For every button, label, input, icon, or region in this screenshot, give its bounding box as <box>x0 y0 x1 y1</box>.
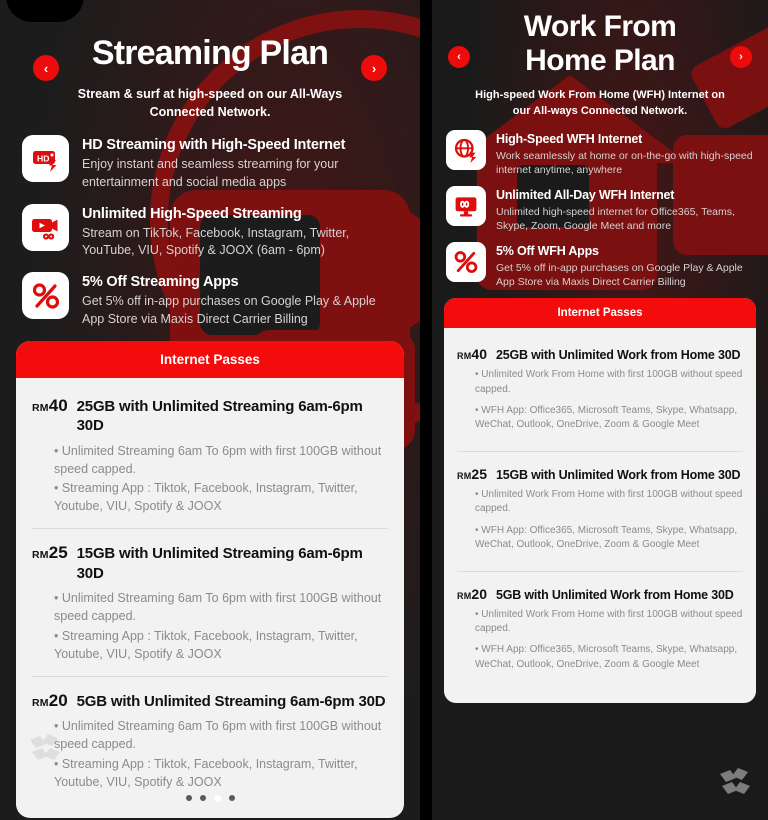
feature-item: Unlimited All-Day WFH Internet Unlimited… <box>446 186 756 233</box>
right-panel-subtitle: High-speed Work From Home (WFH) Internet… <box>466 88 734 120</box>
currency-label: RM <box>32 549 49 561</box>
pass-name: 5GB with Unlimited Work from Home 30D <box>496 587 734 603</box>
pass-price: RM25 <box>457 466 487 482</box>
pass-name: 15GB with Unlimited Work from Home 30D <box>496 467 740 483</box>
pass-bullet: • Streaming App : Tiktok, Facebook, Inst… <box>54 755 388 791</box>
pass-price: RM40 <box>457 346 487 362</box>
pass-bullet: • Unlimited Work From Home with first 10… <box>475 488 743 516</box>
pagination-dot[interactable] <box>200 795 206 801</box>
dual-plan-comparison-screen: ‹ › Streaming Plan Stream & surf at high… <box>0 0 768 820</box>
passes-list: RM40 25GB with Unlimited Work from Home … <box>444 328 756 702</box>
pass-item[interactable]: RM20 5GB with Unlimited Work from Home 3… <box>457 571 743 691</box>
price-value: 40 <box>471 346 487 362</box>
unlimited-video-icon <box>22 204 69 251</box>
pagination-dot[interactable] <box>186 795 192 801</box>
svg-text:HD: HD <box>37 153 49 163</box>
pass-bullets: • Unlimited Work From Home with first 10… <box>457 608 743 672</box>
feature-description: Get 5% off in-app purchases on Google Pl… <box>82 293 392 328</box>
streaming-plan-panel: ‹ › Streaming Plan Stream & surf at high… <box>0 0 420 820</box>
pass-bullets: • Unlimited Streaming 6am To 6pm with fi… <box>32 442 388 516</box>
feature-title: HD Streaming with High-Speed Internet <box>82 137 392 153</box>
feature-description: Get 5% off in-app purchases on Google Pl… <box>496 261 756 289</box>
pass-item[interactable]: RM25 15GB with Unlimited Streaming 6am-6… <box>32 528 388 676</box>
pass-bullet: • Unlimited Streaming 6am To 6pm with fi… <box>54 442 388 478</box>
pass-item[interactable]: RM40 25GB with Unlimited Work from Home … <box>457 332 743 451</box>
prev-arrow-left-panel[interactable]: ‹ <box>33 55 59 81</box>
passes-list: RM40 25GB with Unlimited Streaming 6am-6… <box>16 378 404 818</box>
pass-bullet: • Unlimited Work From Home with first 10… <box>475 368 743 396</box>
pass-bullet: • Streaming App : Tiktok, Facebook, Inst… <box>54 627 388 663</box>
pass-bullets: • Unlimited Streaming 6am To 6pm with fi… <box>32 589 388 663</box>
pass-name: 25GB with Unlimited Streaming 6am-6pm 30… <box>77 397 388 436</box>
next-arrow-right-panel[interactable]: › <box>730 46 752 68</box>
currency-label: RM <box>457 591 471 601</box>
pass-item[interactable]: RM25 15GB with Unlimited Work from Home … <box>457 451 743 571</box>
right-panel-title-line1: Work From <box>432 0 768 44</box>
passes-card-header: Internet Passes <box>16 341 404 378</box>
passes-card-header: Internet Passes <box>444 298 756 328</box>
work-from-home-plan-panel: ‹ › Work From Home Plan High-speed Work … <box>432 0 768 820</box>
maxis-logo <box>26 728 66 768</box>
right-panel-header: Work From Home Plan High-speed Work From… <box>432 0 768 120</box>
price-value: 20 <box>471 586 487 602</box>
feature-description: Work seamlessly at home or on-the-go wit… <box>496 149 756 177</box>
hd-streaming-icon: HD <box>22 135 69 182</box>
feature-title: 5% Off Streaming Apps <box>82 274 392 290</box>
pass-bullet: • Unlimited Streaming 6am To 6pm with fi… <box>54 717 388 753</box>
percent-discount-icon <box>22 272 69 319</box>
pass-item[interactable]: RM40 25GB with Unlimited Streaming 6am-6… <box>32 382 388 529</box>
pass-price: RM40 <box>32 396 68 416</box>
pass-price: RM25 <box>32 543 68 563</box>
pass-bullets: • Unlimited Streaming 6am To 6pm with fi… <box>32 717 388 791</box>
pass-bullet: • WFH App: Office365, Microsoft Teams, S… <box>475 524 743 552</box>
left-panel-subtitle: Stream & surf at high-speed on our All-W… <box>70 85 350 121</box>
monitor-infinity-icon <box>446 186 486 226</box>
feature-item: Unlimited High-Speed Streaming Stream on… <box>22 204 402 260</box>
prev-arrow-right-panel[interactable]: ‹ <box>448 46 470 68</box>
feature-description: Stream on TikTok, Facebook, Instagram, T… <box>82 225 392 260</box>
pagination-dot[interactable] <box>229 795 235 801</box>
pass-bullet: • WFH App: Office365, Microsoft Teams, S… <box>475 404 743 432</box>
pass-price: RM20 <box>32 691 68 711</box>
pass-bullet: • Unlimited Work From Home with first 10… <box>475 608 743 636</box>
pass-bullet: • Streaming App : Tiktok, Facebook, Inst… <box>54 479 388 515</box>
pass-bullets: • Unlimited Work From Home with first 10… <box>457 488 743 552</box>
panel-divider <box>420 0 432 820</box>
right-panel-title-line2: Home Plan <box>432 44 768 78</box>
feature-title: Unlimited All-Day WFH Internet <box>496 188 756 202</box>
pass-price: RM20 <box>457 586 487 602</box>
feature-item: 5% Off WFH Apps Get 5% off in-app purcha… <box>446 242 756 289</box>
currency-label: RM <box>457 471 471 481</box>
left-panel-feature-list: HD HD Streaming with High-Speed Internet… <box>0 121 420 328</box>
globe-bolt-icon <box>446 130 486 170</box>
left-internet-passes-card: Internet Passes RM40 25GB with Unlimited… <box>16 341 404 818</box>
currency-label: RM <box>457 351 471 361</box>
carousel-pagination[interactable] <box>0 795 420 802</box>
feature-description: Unlimited high-speed internet for Office… <box>496 205 756 233</box>
right-internet-passes-card: Internet Passes RM40 25GB with Unlimited… <box>444 298 756 702</box>
next-arrow-left-panel[interactable]: › <box>361 55 387 81</box>
feature-item: 5% Off Streaming Apps Get 5% off in-app … <box>22 272 402 328</box>
feature-description: Enjoy instant and seamless streaming for… <box>82 156 392 191</box>
maxis-logo <box>716 762 756 802</box>
feature-item: High-Speed WFH Internet Work seamlessly … <box>446 130 756 177</box>
feature-title: High-Speed WFH Internet <box>496 132 756 146</box>
pass-bullets: • Unlimited Work From Home with first 10… <box>457 368 743 432</box>
price-value: 25 <box>471 466 487 482</box>
right-panel-feature-list: High-Speed WFH Internet Work seamlessly … <box>432 120 768 289</box>
feature-title: Unlimited High-Speed Streaming <box>82 206 392 222</box>
currency-label: RM <box>32 402 49 414</box>
percent-discount-icon <box>446 242 486 282</box>
pass-name: 25GB with Unlimited Work from Home 30D <box>496 347 740 363</box>
currency-label: RM <box>32 697 49 709</box>
pass-name: 5GB with Unlimited Streaming 6am-6pm 30D <box>77 692 386 712</box>
pass-bullet: • Unlimited Streaming 6am To 6pm with fi… <box>54 589 388 625</box>
price-value: 20 <box>49 691 68 710</box>
feature-item: HD HD Streaming with High-Speed Internet… <box>22 135 402 191</box>
price-value: 40 <box>49 396 68 415</box>
price-value: 25 <box>49 543 68 562</box>
pass-item[interactable]: RM20 5GB with Unlimited Streaming 6am-6p… <box>32 676 388 804</box>
feature-title: 5% Off WFH Apps <box>496 244 756 258</box>
pass-bullet: • WFH App: Office365, Microsoft Teams, S… <box>475 643 743 671</box>
pass-name: 15GB with Unlimited Streaming 6am-6pm 30… <box>77 544 388 583</box>
pagination-dot-active[interactable] <box>214 795 221 802</box>
